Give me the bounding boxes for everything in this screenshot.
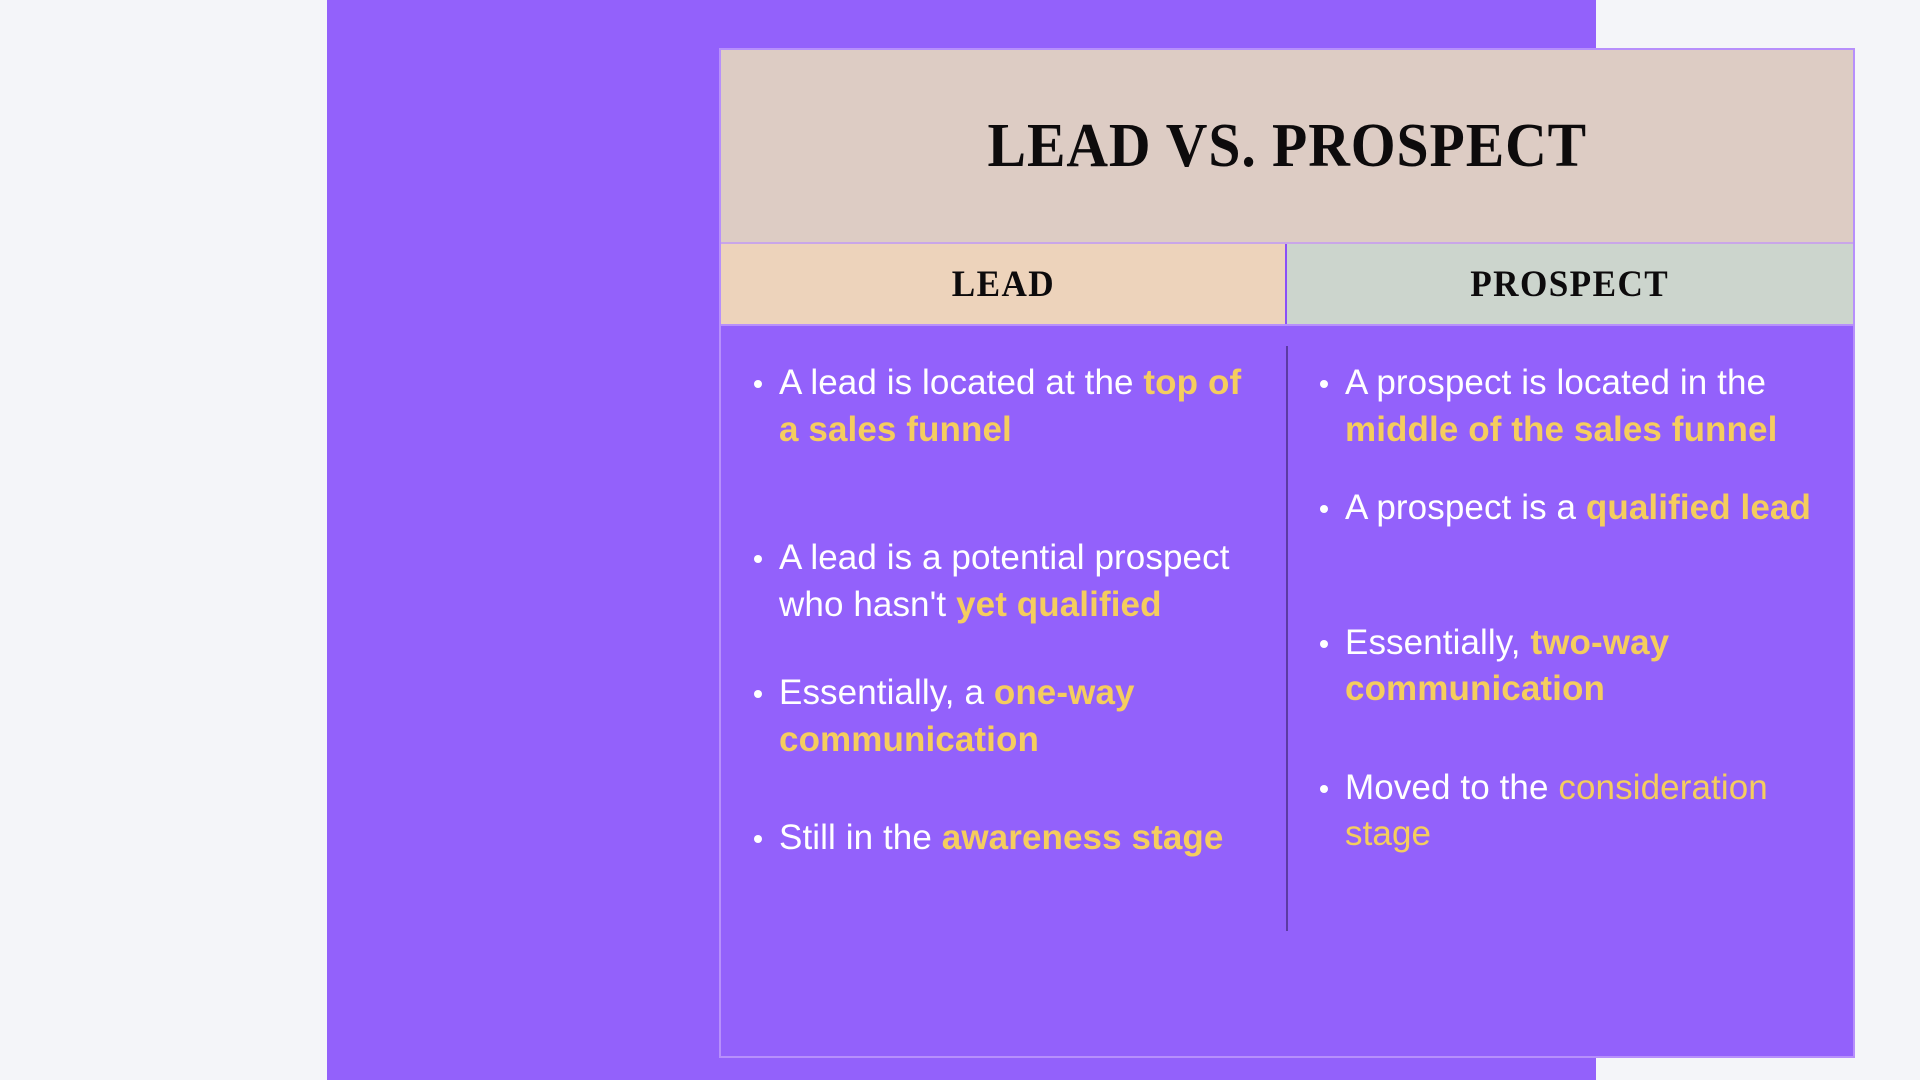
bullet-text-plain: Still in the [779,818,942,857]
column-body-prospect: A prospect is located in the middle of t… [1287,326,1853,1056]
list-item: A lead is located at the top of a sales … [745,360,1263,453]
column-divider [1286,346,1288,931]
column-header-lead-label: LEAD [951,263,1054,306]
bullet-text-plain: Essentially, a [779,673,994,712]
bullet-text-highlight: qualified lead [1586,488,1811,527]
bullet-text-plain: A lead is located at the [779,363,1143,402]
comparison-table: LEAD VS. PROSPECT LEAD PROSPECT A [719,48,1855,1058]
table-header-row: LEAD PROSPECT [721,244,1853,324]
page-title: LEAD VS. PROSPECT [987,111,1586,182]
column-header-lead: LEAD [721,244,1287,324]
bullet-text-highlight: middle of the sales funnel [1345,410,1777,449]
list-item: A prospect is a qualified lead [1311,485,1829,532]
table-title-band: LEAD VS. PROSPECT [721,50,1853,244]
bullet-text-plain: Essentially, [1345,623,1530,662]
list-item: A prospect is located in the middle of t… [1311,360,1829,453]
purple-canvas: LEAD VS. PROSPECT LEAD PROSPECT A [327,0,1596,1080]
list-item: Moved to the consideration stage [1311,765,1829,858]
screenshot-stage: LEAD VS. PROSPECT LEAD PROSPECT A [0,0,1920,1080]
list-item: Essentially, two-way communication [1311,620,1829,713]
column-header-prospect-label: PROSPECT [1471,263,1670,306]
prospect-bullet-list: A prospect is located in the middle of t… [1311,360,1829,858]
list-item: Still in the awareness stage [745,815,1263,862]
column-body-lead: A lead is located at the top of a sales … [721,326,1287,1056]
lead-bullet-list: A lead is located at the top of a sales … [745,360,1263,862]
bullet-text-highlight: awareness stage [942,818,1224,857]
bullet-text-plain: A prospect is located in the [1345,363,1766,402]
column-header-prospect: PROSPECT [1287,244,1853,324]
bullet-text-plain: A prospect is a [1345,488,1586,527]
bullet-text-highlight: yet qualified [956,585,1162,624]
table-body-row: A lead is located at the top of a sales … [721,324,1853,1056]
bullet-text-plain: Moved to the [1345,768,1558,807]
list-item: Essentially, a one-way communication [745,670,1263,763]
list-item: A lead is a potential prospect who hasn'… [745,535,1263,628]
